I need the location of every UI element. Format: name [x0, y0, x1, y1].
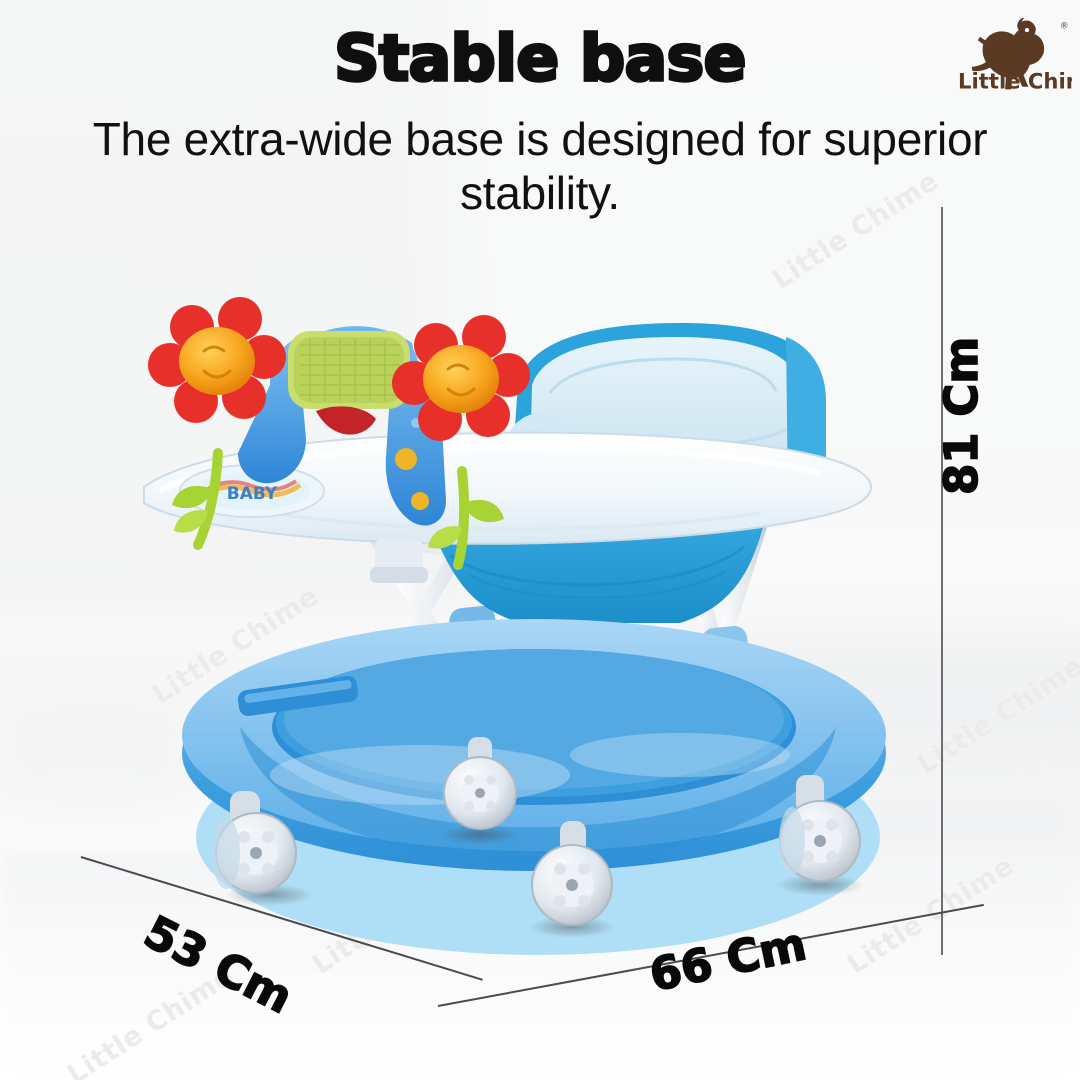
- product-infographic: Little ChimeLittle ChimeLittle ChimeLitt…: [0, 0, 1080, 1080]
- height-dimension-label: 81 Cm: [935, 337, 988, 495]
- page-title: Stable base: [0, 26, 1080, 92]
- tray-sticker-text: BABY: [227, 484, 278, 504]
- height-dimension-line: [941, 207, 943, 955]
- page-subtitle: The extra-wide base is designed for supe…: [60, 112, 1020, 221]
- product-image: BABY: [120, 275, 950, 955]
